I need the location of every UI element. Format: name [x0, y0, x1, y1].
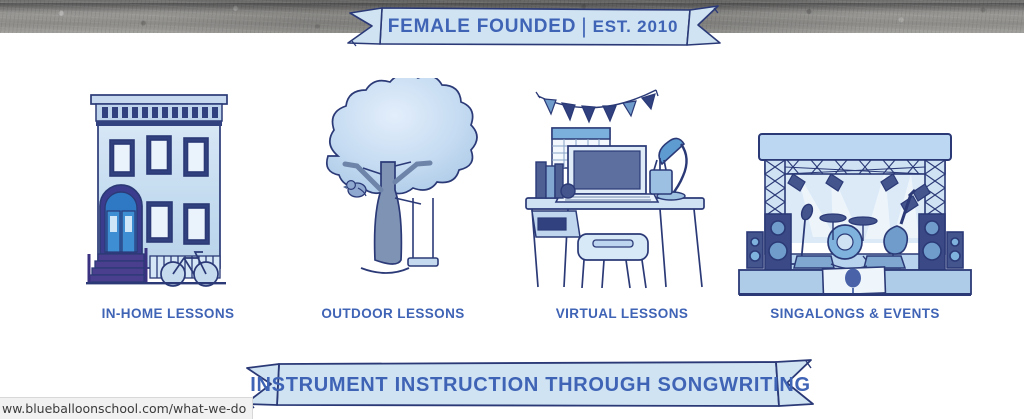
banner-title-secondary: EST. 2010	[593, 17, 679, 37]
banner-text-row: FEMALE FOUNDED | EST. 2010	[342, 4, 724, 50]
service-card-singalongs[interactable]: SINGALONGS & EVENTS	[735, 78, 975, 328]
bunting-flags	[536, 90, 658, 122]
service-card-virtual[interactable]: VIRTUAL LESSONS	[508, 78, 736, 328]
services-row: IN-HOME LESSONS	[0, 78, 1024, 328]
service-label-in-home: IN-HOME LESSONS	[58, 306, 278, 321]
desk-laptop-illustration	[508, 78, 736, 293]
status-bar-link-preview: ww.blueballoonschool.com/what-we-do	[2, 401, 246, 416]
service-card-outdoor[interactable]: OUTDOOR LESSONS	[283, 78, 503, 328]
banner-title-main: FEMALE FOUNDED	[388, 16, 577, 38]
browser-status-bar: ww.blueballoonschool.com/what-we-do	[0, 397, 253, 419]
tagline-text: INSTRUMENT INSTRUCTION THROUGH SONGWRITI…	[243, 358, 818, 412]
service-label-outdoor: OUTDOOR LESSONS	[283, 306, 503, 321]
banner-separator: |	[576, 15, 592, 39]
townhouse-illustration	[58, 78, 278, 293]
tagline-banner: INSTRUMENT INSTRUCTION THROUGH SONGWRITI…	[243, 358, 818, 412]
tree-with-swing-illustration	[283, 78, 503, 293]
service-label-virtual: VIRTUAL LESSONS	[508, 306, 736, 321]
female-founded-banner: FEMALE FOUNDED | EST. 2010	[342, 4, 724, 50]
service-card-in-home[interactable]: IN-HOME LESSONS	[58, 78, 278, 328]
service-label-singalongs: SINGALONGS & EVENTS	[735, 306, 975, 321]
